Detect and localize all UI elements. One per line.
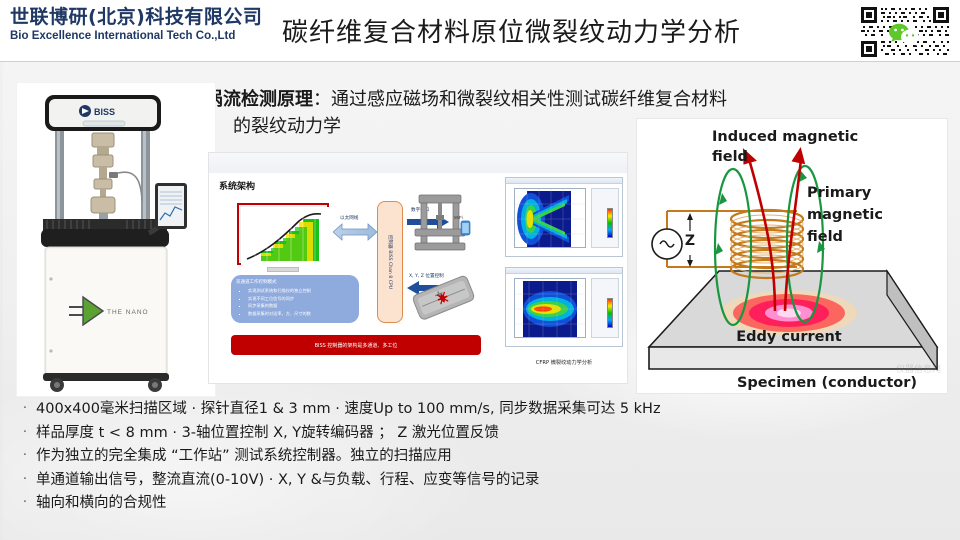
bullet-marker: · — [14, 422, 36, 445]
test-machine-photo: BISS — [16, 82, 216, 397]
bullet-text: 样品厚度 t < 8 mm · 3-轴位置控制 X, Y旋转编码器 ； Z 激光… — [36, 422, 954, 445]
heatmap-card — [505, 177, 623, 257]
slide-header: 世联博研(北京)科技有限公司 Bio Excellence Internatio… — [0, 0, 960, 62]
load-frame-icon: WiFi — [405, 189, 475, 259]
heatmap-side-panel — [591, 278, 619, 338]
biss-logo-icon: BISS — [79, 105, 115, 117]
company-name-en: Bio Excellence International Tech Co.,Lt… — [10, 29, 265, 44]
ethernet-link-label: 以太网线 — [340, 215, 358, 221]
figure-top-strip — [209, 153, 628, 173]
heatmap-panels — [505, 177, 623, 355]
system-architecture-figure: 系统架构 — [208, 152, 628, 384]
architecture-banner: BISS 控制器的架构是多通道、多工位 — [231, 335, 481, 355]
svg-text:WiFi: WiFi — [454, 215, 463, 220]
bullet-text: 轴向和横向的合规性 — [36, 492, 954, 515]
heatmap-titlebar — [506, 268, 622, 274]
biss-controller-module: 控制器 BISS Chan 8 CPU — [377, 201, 403, 323]
bullet-text: 作为独立的完全集成 “工作站” 测试系统控制器。独立的扫描应用 — [36, 445, 954, 468]
callout-item: 实现不同工位信号的同步 — [248, 295, 354, 303]
bullet-marker: · — [14, 445, 36, 468]
eddy-current-label: Eddy current — [736, 329, 842, 345]
bullet-marker: · — [14, 469, 36, 492]
slide-canvas: 世联博研(北京)科技有限公司 Bio Excellence Internatio… — [0, 0, 960, 540]
callout-item: 同步采集的数据 — [248, 302, 354, 310]
subtitle-colon: ： — [313, 89, 331, 110]
scan-image-monitor — [237, 203, 329, 265]
bullet-marker: · — [14, 398, 36, 421]
induced-field-label-line2: field — [712, 149, 748, 165]
bullet-marker: · — [14, 492, 36, 515]
heatmap-colorbar — [607, 298, 613, 328]
callout-item: 数据采集时对适率，方、尺寸的数 — [248, 310, 354, 318]
subtitle-lead: 涡流检测原理 — [205, 89, 313, 110]
bullet-text: 400x400毫米扫描区域 · 探针直径1 & 3 mm · 速度Up to 1… — [36, 398, 954, 421]
heatmap-colorbar — [607, 208, 613, 238]
list-item: · 轴向和横向的合规性 — [14, 492, 954, 515]
header-divider — [0, 61, 960, 62]
induced-field-label-line1: Induced magnetic — [712, 129, 858, 145]
subtitle-line1: 通过感应磁场和微裂纹相关性测试碳纤维复合材料 — [331, 89, 727, 110]
heatmap-plot — [514, 278, 586, 338]
list-item: · 作为独立的完全集成 “工作站” 测试系统控制器。独立的扫描应用 — [14, 445, 954, 468]
tablet-display — [155, 183, 187, 229]
company-name-cn: 世联博研(北京)科技有限公司 — [10, 5, 265, 29]
heatmap-caption: CFRP 微裂纹动力学分析 — [505, 359, 623, 366]
primary-field-label-line1: Primary — [807, 185, 872, 201]
bullet-text: 单通道输出信号，整流直流(0-10V) · X, Y &与负载、行程、应变等信号… — [36, 469, 954, 492]
primary-field-label-line2: magnetic — [807, 207, 883, 223]
callout-item: 实现测试系统和扫描仪的独立控制 — [248, 287, 354, 295]
watermark: 仪器信息网 — [896, 362, 941, 375]
page-title: 碳纤维复合材料原位微裂纹动力学分析 — [282, 16, 842, 50]
callout-list: 实现测试系统和扫描仪的独立控制 实现不同工位信号的同步 同步采集的数据 数据采集… — [236, 287, 354, 317]
heatmap-plot — [514, 188, 586, 248]
heatmap-card — [505, 267, 623, 347]
eddy-current-principle-figure: Z — [636, 118, 948, 394]
list-item: · 单通道输出信号，整流直流(0-10V) · X, Y &与负载、行程、应变等… — [14, 469, 954, 492]
svg-text:BISS: BISS — [94, 107, 115, 117]
dual-channel-callout: 双通道工作控制模式 实现测试系统和扫描仪的独立控制 实现不同工位信号的同步 同步… — [231, 275, 359, 323]
heatmap-side-panel — [591, 188, 619, 248]
callout-title: 双通道工作控制模式 — [236, 279, 354, 286]
spec-bullet-list: · 400x400毫米扫描区域 · 探针直径1 & 3 mm · 速度Up to… — [14, 398, 954, 516]
scanner-probe-icon — [405, 273, 481, 325]
monitor-scan-image — [241, 207, 325, 261]
company-logo: 世联博研(北京)科技有限公司 Bio Excellence Internatio… — [10, 5, 265, 44]
ethernet-link-arrow — [333, 221, 377, 245]
wechat-qr-code-icon[interactable] — [855, 3, 955, 61]
primary-field-label-line3: field — [807, 229, 843, 245]
monitor-stand — [267, 267, 299, 272]
impedance-label: Z — [685, 233, 695, 249]
architecture-title: 系统架构 — [219, 179, 255, 192]
heatmap-titlebar — [506, 178, 622, 184]
list-item: · 400x400毫米扫描区域 · 探针直径1 & 3 mm · 速度Up to… — [14, 398, 954, 421]
svg-text:THE NANO: THE NANO — [107, 309, 149, 316]
controller-label: 控制器 BISS Chan 8 CPU — [387, 235, 393, 289]
wifi-tablet-icon — [461, 221, 470, 235]
list-item: · 样品厚度 t < 8 mm · 3-轴位置控制 X, Y旋转编码器 ； Z … — [14, 422, 954, 445]
specimen-label: Specimen (conductor) — [737, 375, 917, 391]
